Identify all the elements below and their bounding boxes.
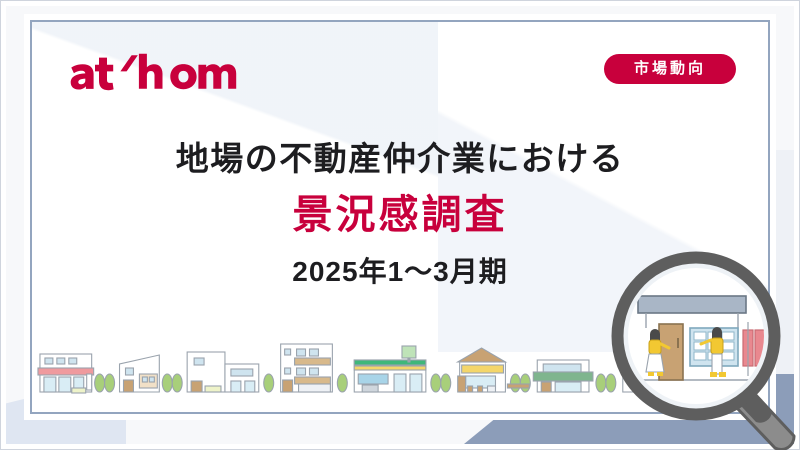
page-title: 地場の不動産仲介業における xyxy=(32,138,768,179)
status-badge: 市場動向 xyxy=(604,54,736,84)
page-subtitle: 景況感調査 xyxy=(32,191,768,239)
slide-canvas: 市場動向 地場の不動産仲介業における 景況感調査 2025年1〜3月期 xyxy=(0,0,800,450)
magnifying-glass xyxy=(612,252,800,448)
athome-logo[interactable] xyxy=(68,52,248,94)
